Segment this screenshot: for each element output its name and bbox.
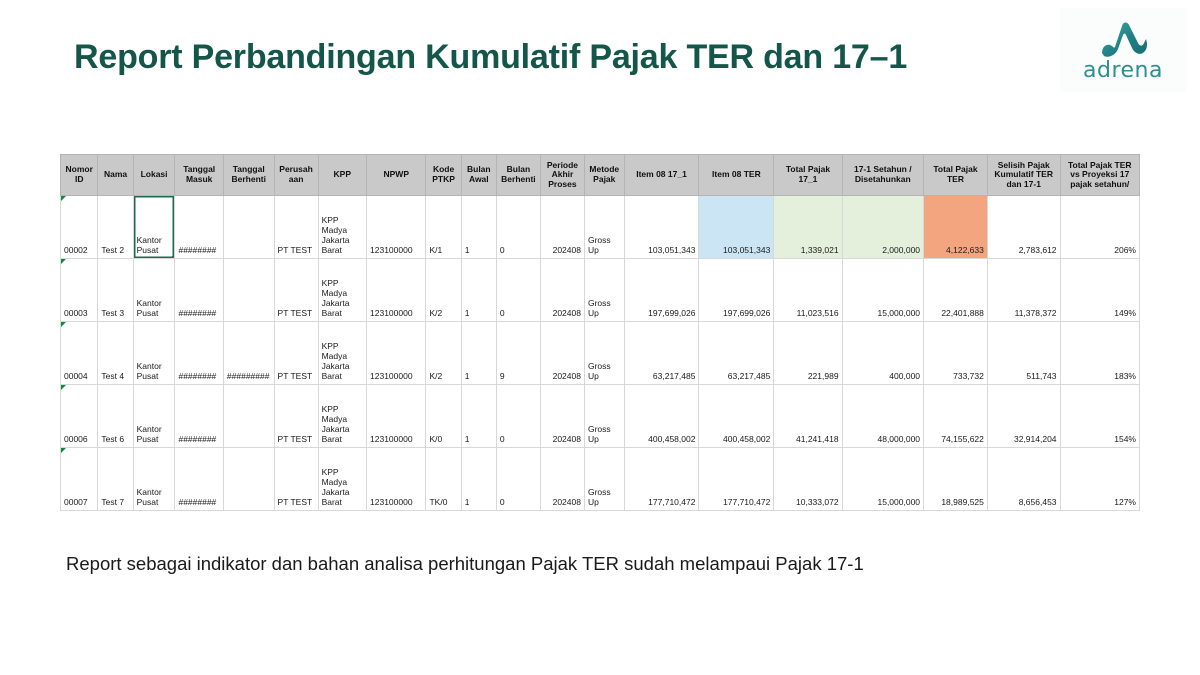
- cell-total-pajak-ter[interactable]: 22,401,888: [924, 259, 988, 322]
- cell-bulan-berhenti[interactable]: 0: [496, 448, 540, 511]
- cell-selisih-kumulatif[interactable]: 2,783,612: [987, 196, 1060, 259]
- cell-npwp[interactable]: 123100000: [367, 385, 426, 448]
- cell-tanggal-berhenti[interactable]: [223, 196, 274, 259]
- cell-kpp[interactable]: KPP Madya Jakarta Barat: [318, 259, 366, 322]
- cell-lokasi[interactable]: Kantor Pusat: [133, 196, 175, 259]
- cell-ter-vs-proyeksi[interactable]: 127%: [1060, 448, 1139, 511]
- cell-metode-pajak[interactable]: Gross Up: [584, 385, 624, 448]
- cell-perusahaan[interactable]: PT TEST: [274, 259, 318, 322]
- cell-item-08-17-1[interactable]: 197,699,026: [624, 259, 699, 322]
- table-row[interactable]: 00007Test 7Kantor Pusat########PT TESTKP…: [61, 448, 1140, 511]
- cell-bulan-awal[interactable]: 1: [461, 196, 496, 259]
- cell-periode-akhir-proses[interactable]: 202408: [540, 448, 584, 511]
- cell-total-pajak-17-1[interactable]: 41,241,418: [774, 385, 842, 448]
- col-header-npwp[interactable]: NPWP: [367, 155, 426, 196]
- report-table[interactable]: Nomor ID Nama Lokasi Tanggal Masuk Tangg…: [60, 154, 1140, 511]
- cell-item-08-ter[interactable]: 63,217,485: [699, 322, 774, 385]
- cell-bulan-awal[interactable]: 1: [461, 322, 496, 385]
- cell-nama[interactable]: Test 3: [98, 259, 133, 322]
- cell-setahun-disetahunkan[interactable]: 15,000,000: [842, 448, 923, 511]
- cell-kpp[interactable]: KPP Madya Jakarta Barat: [318, 196, 366, 259]
- cell-lokasi[interactable]: Kantor Pusat: [133, 259, 175, 322]
- cell-item-08-ter[interactable]: 197,699,026: [699, 259, 774, 322]
- brand-logo: adrena: [1060, 8, 1186, 92]
- col-header-tanggal-masuk[interactable]: Tanggal Masuk: [175, 155, 223, 196]
- cell-setahun-disetahunkan[interactable]: 15,000,000: [842, 259, 923, 322]
- table-row[interactable]: 00002Test 2Kantor Pusat########PT TESTKP…: [61, 196, 1140, 259]
- cell-kpp[interactable]: KPP Madya Jakarta Barat: [318, 322, 366, 385]
- cell-total-pajak-ter[interactable]: 74,155,622: [924, 385, 988, 448]
- cell-nomor-id[interactable]: 00007: [61, 448, 98, 511]
- cell-periode-akhir-proses[interactable]: 202408: [540, 322, 584, 385]
- cell-item-08-17-1[interactable]: 400,458,002: [624, 385, 699, 448]
- col-header-setahun-disetahunkan[interactable]: 17-1 Setahun / Disetahunkan: [842, 155, 923, 196]
- cell-perusahaan[interactable]: PT TEST: [274, 196, 318, 259]
- cell-item-08-ter[interactable]: 400,458,002: [699, 385, 774, 448]
- cell-bulan-awal[interactable]: 1: [461, 259, 496, 322]
- cell-item-08-17-1[interactable]: 103,051,343: [624, 196, 699, 259]
- cell-tanggal-berhenti[interactable]: #########: [223, 322, 274, 385]
- col-header-total-pajak-ter[interactable]: Total Pajak TER: [924, 155, 988, 196]
- col-header-periode-akhir-proses[interactable]: Periode Akhir Proses: [540, 155, 584, 196]
- cell-item-08-17-1[interactable]: 63,217,485: [624, 322, 699, 385]
- cell-tanggal-masuk[interactable]: ########: [175, 259, 223, 322]
- cell-tanggal-masuk[interactable]: ########: [175, 448, 223, 511]
- cell-tanggal-masuk[interactable]: ########: [175, 322, 223, 385]
- cell-total-pajak-ter[interactable]: 4,122,633: [924, 196, 988, 259]
- cell-setahun-disetahunkan[interactable]: 2,000,000: [842, 196, 923, 259]
- cell-nama[interactable]: Test 2: [98, 196, 133, 259]
- table-row[interactable]: 00004Test 4Kantor Pusat#################…: [61, 322, 1140, 385]
- cell-ter-vs-proyeksi[interactable]: 149%: [1060, 259, 1139, 322]
- col-header-tanggal-berhenti[interactable]: Tanggal Berhenti: [223, 155, 274, 196]
- cell-item-08-ter[interactable]: 177,710,472: [699, 448, 774, 511]
- cell-perusahaan[interactable]: PT TEST: [274, 448, 318, 511]
- cell-tanggal-masuk[interactable]: ########: [175, 196, 223, 259]
- cell-setahun-disetahunkan[interactable]: 400,000: [842, 322, 923, 385]
- cell-npwp[interactable]: 123100000: [367, 322, 426, 385]
- cell-kpp[interactable]: KPP Madya Jakarta Barat: [318, 448, 366, 511]
- col-header-metode-pajak[interactable]: Metode Pajak: [584, 155, 624, 196]
- logo-wordmark: adrena: [1083, 58, 1163, 83]
- cell-periode-akhir-proses[interactable]: 202408: [540, 196, 584, 259]
- cell-selisih-kumulatif[interactable]: 11,378,372: [987, 259, 1060, 322]
- col-header-item-08-17-1[interactable]: Item 08 17_1: [624, 155, 699, 196]
- cell-lokasi[interactable]: Kantor Pusat: [133, 322, 175, 385]
- cell-perusahaan[interactable]: PT TEST: [274, 385, 318, 448]
- adrena-peak-icon: [1096, 17, 1150, 57]
- cell-npwp[interactable]: 123100000: [367, 196, 426, 259]
- cell-item-08-ter[interactable]: 103,051,343: [699, 196, 774, 259]
- cell-nomor-id[interactable]: 00002: [61, 196, 98, 259]
- cell-lokasi[interactable]: Kantor Pusat: [133, 385, 175, 448]
- col-header-nomor-id[interactable]: Nomor ID: [61, 155, 98, 196]
- cell-ter-vs-proyeksi[interactable]: 206%: [1060, 196, 1139, 259]
- table-header-row: Nomor ID Nama Lokasi Tanggal Masuk Tangg…: [61, 155, 1140, 196]
- table-row[interactable]: 00006Test 6Kantor Pusat########PT TESTKP…: [61, 385, 1140, 448]
- col-header-nama[interactable]: Nama: [98, 155, 133, 196]
- page-title: Report Perbandingan Kumulatif Pajak TER …: [74, 38, 907, 77]
- col-header-perusahaan[interactable]: Perusah aan: [274, 155, 318, 196]
- cell-npwp[interactable]: 123100000: [367, 448, 426, 511]
- cell-selisih-kumulatif[interactable]: 8,656,453: [987, 448, 1060, 511]
- col-header-item-08-ter[interactable]: Item 08 TER: [699, 155, 774, 196]
- cell-total-pajak-17-1[interactable]: 10,333,072: [774, 448, 842, 511]
- cell-total-pajak-17-1[interactable]: 1,339,021: [774, 196, 842, 259]
- col-header-bulan-berhenti[interactable]: Bulan Berhenti: [496, 155, 540, 196]
- col-header-total-pajak-17-1[interactable]: Total Pajak 17_1: [774, 155, 842, 196]
- cell-kode-ptkp[interactable]: K/2: [426, 259, 461, 322]
- cell-selisih-kumulatif[interactable]: 32,914,204: [987, 385, 1060, 448]
- cell-kpp[interactable]: KPP Madya Jakarta Barat: [318, 385, 366, 448]
- cell-tanggal-berhenti[interactable]: [223, 448, 274, 511]
- cell-nama[interactable]: Test 4: [98, 322, 133, 385]
- cell-total-pajak-ter[interactable]: 18,989,525: [924, 448, 988, 511]
- col-header-kpp[interactable]: KPP: [318, 155, 366, 196]
- cell-lokasi[interactable]: Kantor Pusat: [133, 448, 175, 511]
- cell-npwp[interactable]: 123100000: [367, 259, 426, 322]
- cell-kode-ptkp[interactable]: K/0: [426, 385, 461, 448]
- cell-nomor-id[interactable]: 00006: [61, 385, 98, 448]
- cell-selisih-kumulatif[interactable]: 511,743: [987, 322, 1060, 385]
- cell-ter-vs-proyeksi[interactable]: 183%: [1060, 322, 1139, 385]
- cell-metode-pajak[interactable]: Gross Up: [584, 196, 624, 259]
- cell-bulan-awal[interactable]: 1: [461, 448, 496, 511]
- cell-kode-ptkp[interactable]: TK/0: [426, 448, 461, 511]
- cell-periode-akhir-proses[interactable]: 202408: [540, 385, 584, 448]
- cell-bulan-berhenti[interactable]: 0: [496, 385, 540, 448]
- cell-metode-pajak[interactable]: Gross Up: [584, 322, 624, 385]
- cell-nama[interactable]: Test 6: [98, 385, 133, 448]
- cell-bulan-berhenti[interactable]: 0: [496, 196, 540, 259]
- cell-tanggal-berhenti[interactable]: [223, 385, 274, 448]
- cell-kode-ptkp[interactable]: K/1: [426, 196, 461, 259]
- cell-total-pajak-ter[interactable]: 733,732: [924, 322, 988, 385]
- cell-setahun-disetahunkan[interactable]: 48,000,000: [842, 385, 923, 448]
- cell-bulan-berhenti[interactable]: 0: [496, 259, 540, 322]
- cell-total-pajak-17-1[interactable]: 11,023,516: [774, 259, 842, 322]
- table-row[interactable]: 00003Test 3Kantor Pusat########PT TESTKP…: [61, 259, 1140, 322]
- cell-nama[interactable]: Test 7: [98, 448, 133, 511]
- cell-periode-akhir-proses[interactable]: 202408: [540, 259, 584, 322]
- cell-nomor-id[interactable]: 00004: [61, 322, 98, 385]
- col-header-ter-vs-proyeksi[interactable]: Total Pajak TER vs Proyeksi 17 pajak set…: [1060, 155, 1139, 196]
- col-header-bulan-awal[interactable]: Bulan Awal: [461, 155, 496, 196]
- cell-kode-ptkp[interactable]: K/2: [426, 322, 461, 385]
- cell-metode-pajak[interactable]: Gross Up: [584, 448, 624, 511]
- cell-bulan-awal[interactable]: 1: [461, 385, 496, 448]
- col-header-selisih-kumulatif[interactable]: Selisih Pajak Kumulatif TER dan 17-1: [987, 155, 1060, 196]
- cell-bulan-berhenti[interactable]: 9: [496, 322, 540, 385]
- cell-item-08-17-1[interactable]: 177,710,472: [624, 448, 699, 511]
- cell-total-pajak-17-1[interactable]: 221,989: [774, 322, 842, 385]
- slide-caption: Report sebagai indikator dan bahan anali…: [66, 553, 864, 575]
- cell-tanggal-berhenti[interactable]: [223, 259, 274, 322]
- cell-ter-vs-proyeksi[interactable]: 154%: [1060, 385, 1139, 448]
- cell-tanggal-masuk[interactable]: ########: [175, 385, 223, 448]
- cell-nomor-id[interactable]: 00003: [61, 259, 98, 322]
- col-header-lokasi[interactable]: Lokasi: [133, 155, 175, 196]
- cell-metode-pajak[interactable]: Gross Up: [584, 259, 624, 322]
- cell-perusahaan[interactable]: PT TEST: [274, 322, 318, 385]
- col-header-kode-ptkp[interactable]: Kode PTKP: [426, 155, 461, 196]
